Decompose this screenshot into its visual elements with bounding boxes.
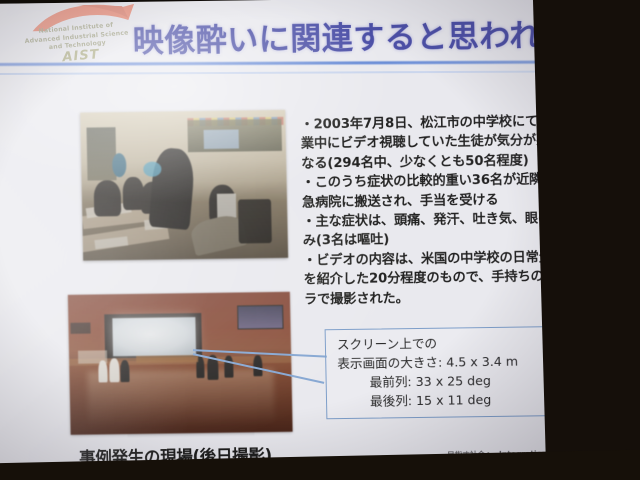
callout-line-4: 最後列: 15 x 11 deg (338, 389, 553, 411)
callout-box-text: スクリーン上での 表示画面の大きさ: 4.5 x 3.4 m 最前列: 33 x… (337, 332, 554, 411)
slide-body-text: ・2003年7月8日、松江市の中学校にて、授業中にビデオ視聴していた生徒が気分が… (300, 112, 572, 310)
body-bullet-4: ・ビデオの内容は、米国の中学校の日常生活を紹介した20分程度のもので、手持ちのカ… (303, 248, 572, 310)
title-divider-secondary (0, 70, 607, 74)
right-wall-shadow (532, 0, 640, 480)
photo-of-projected-slide: National Institute of Advanced Industria… (0, 0, 640, 480)
body-bullet-1: ・2003年7月8日、松江市の中学校にて、授業中にビデオ視聴していた生徒が気分が… (300, 112, 569, 174)
gymnasium-photo (68, 292, 293, 435)
classroom-photo (80, 110, 288, 261)
projected-slide: National Institute of Advanced Industria… (0, 0, 621, 474)
aist-logo: National Institute of Advanced Industria… (12, 4, 141, 68)
body-bullet-2: ・このうち症状の比較的重い36名が近隣の救急病院に搬送され、手当を受ける (301, 170, 570, 213)
body-bullet-3: ・主な症状は、頭痛、発汗、吐き気、眼の痛み(3名は嘔吐) (302, 209, 571, 252)
